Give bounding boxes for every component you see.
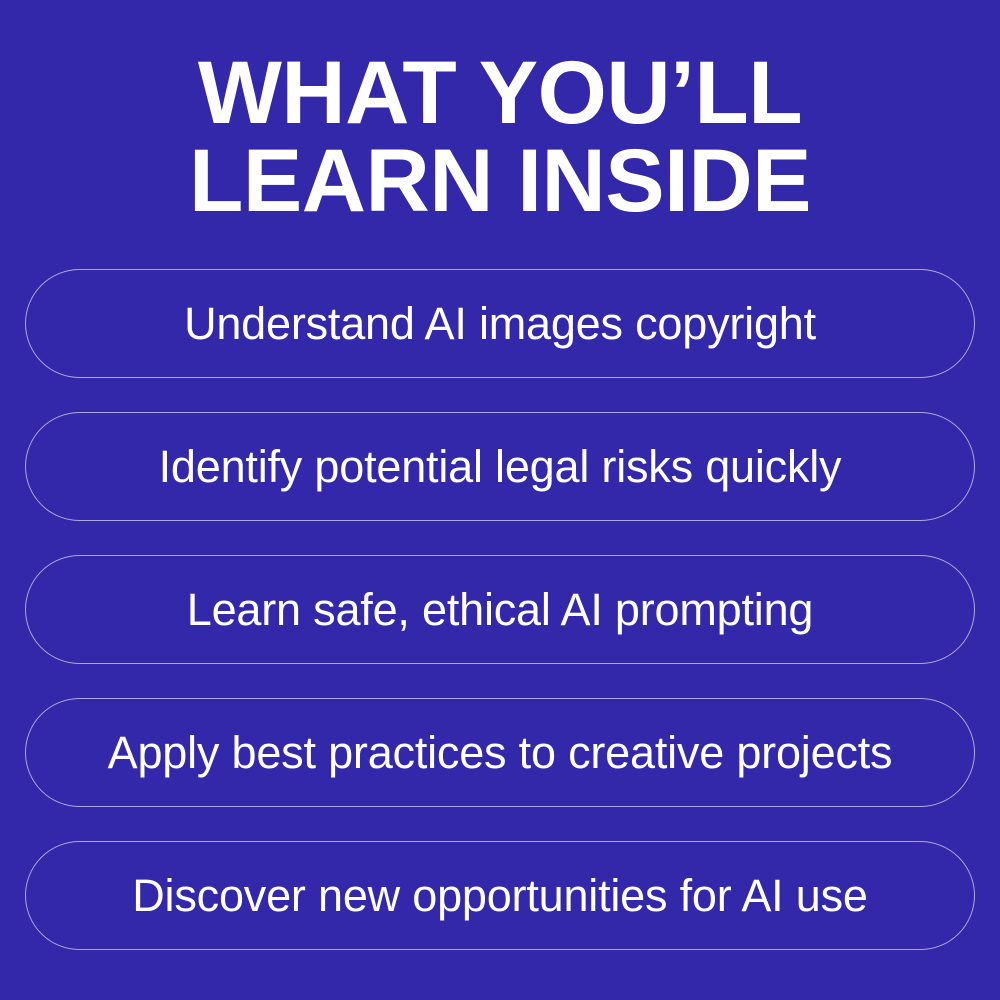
list-item-label: Identify potential legal risks quickly [159, 444, 842, 489]
list-item[interactable]: Discover new opportunities for AI use [25, 841, 975, 950]
list-item[interactable]: Learn safe, ethical AI prompting [25, 555, 975, 664]
list-item[interactable]: Understand AI images copyright [25, 269, 975, 378]
list-item-label: Understand AI images copyright [184, 301, 816, 346]
list-item[interactable]: Identify potential legal risks quickly [25, 412, 975, 521]
list-item-label: Learn safe, ethical AI prompting [187, 587, 813, 632]
slide-canvas: WHAT YOU’LL LEARN INSIDE Understand AI i… [0, 0, 1000, 1000]
list-item-label: Discover new opportunities for AI use [132, 873, 867, 918]
learning-points-list: Understand AI images copyright Identify … [25, 269, 975, 950]
page-title: WHAT YOU’LL LEARN INSIDE [30, 0, 970, 224]
list-item-label: Apply best practices to creative project… [108, 730, 893, 775]
list-item[interactable]: Apply best practices to creative project… [25, 698, 975, 807]
